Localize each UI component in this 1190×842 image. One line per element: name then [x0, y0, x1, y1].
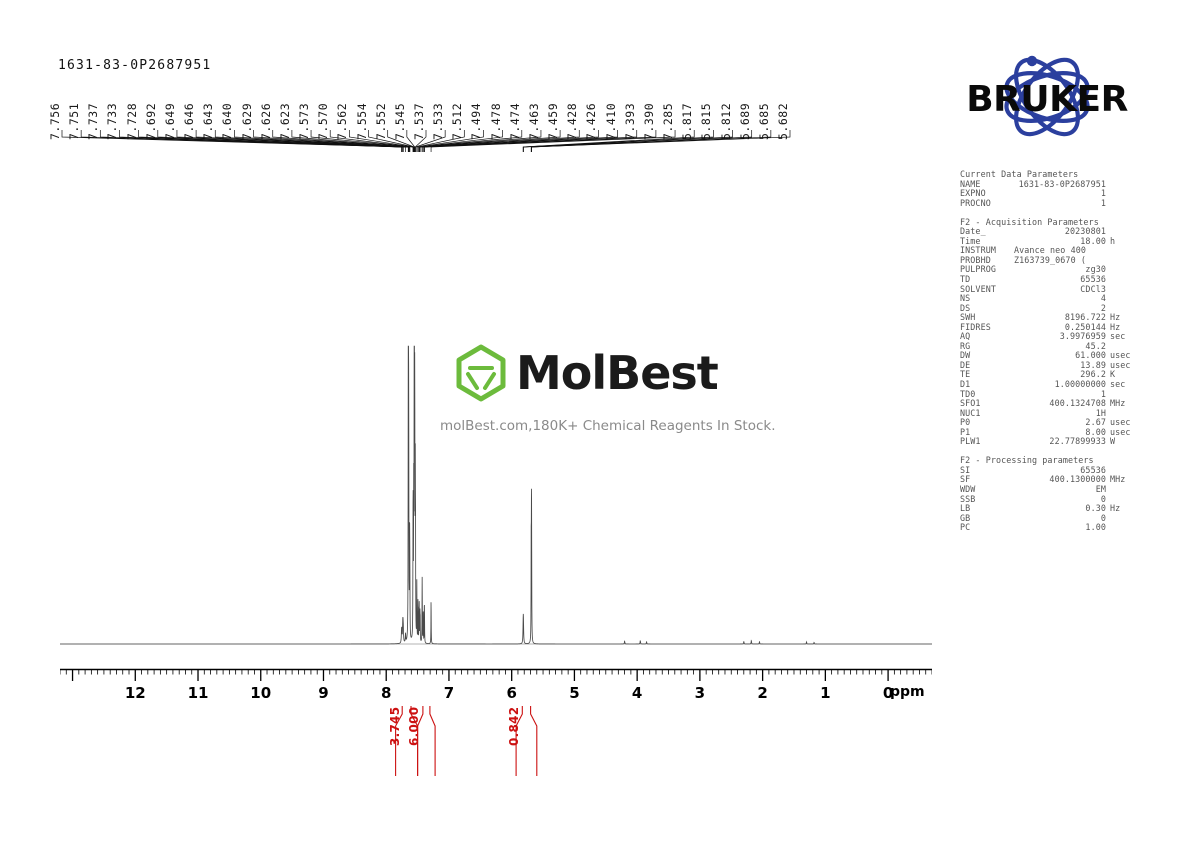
- param-value: 1.00000000: [1014, 380, 1106, 390]
- param-unit: [1106, 485, 1140, 495]
- param-unit: [1106, 285, 1140, 295]
- axis-tick-label: 8: [381, 684, 391, 702]
- integral-brackets: [60, 706, 932, 786]
- param-value: 400.1324708: [1014, 399, 1106, 409]
- param-row: GB0: [960, 514, 1140, 524]
- peak-leader-line: [418, 130, 484, 152]
- param-row: PULPROGzg30: [960, 265, 1140, 275]
- param-row: PLW122.77899933W: [960, 437, 1140, 447]
- param-unit: h: [1106, 237, 1140, 247]
- param-section-header: F2 - Processing parameters: [960, 456, 1140, 466]
- param-unit: [1106, 514, 1140, 524]
- peak-label-list: 7.7567.7517.7377.7337.7287.6927.6497.646…: [62, 62, 802, 140]
- integral-markers: 3.7456.0000.842: [60, 706, 932, 786]
- param-value: CDCl3: [1014, 285, 1106, 295]
- param-unit: MHz: [1106, 399, 1140, 409]
- param-unit: [1106, 265, 1140, 275]
- param-value: 1: [1014, 189, 1106, 199]
- axis-tick-label: 1: [820, 684, 830, 702]
- peak-leader-lines: [60, 130, 820, 152]
- integral-value: 3.745: [388, 707, 402, 746]
- axis-tick-label: 2: [757, 684, 767, 702]
- param-value: 22.77899933: [1014, 437, 1106, 447]
- param-unit: [1106, 523, 1140, 533]
- param-unit: sec: [1106, 380, 1140, 390]
- axis-tick-label: 3: [695, 684, 705, 702]
- param-row: NS4: [960, 294, 1140, 304]
- param-row: WDWEM: [960, 485, 1140, 495]
- param-value: 400.1300000: [1014, 475, 1106, 485]
- param-value: 4: [1014, 294, 1106, 304]
- param-row: PC1.00: [960, 523, 1140, 533]
- bruker-logo: BRUKER: [952, 52, 1142, 142]
- parameter-panel: Current Data ParametersNAME1631-83-0P268…: [960, 170, 1140, 533]
- param-row: AQ3.9976959sec: [960, 332, 1140, 342]
- molbest-watermark: MolBest molBest.com,180K+ Chemical Reage…: [440, 342, 770, 434]
- bruker-wordmark: BRUKER: [952, 82, 1142, 118]
- axis-tick-label: 5: [569, 684, 579, 702]
- param-unit: [1106, 189, 1140, 199]
- watermark-wordmark: MolBest: [516, 350, 718, 396]
- param-value: 0.30: [1014, 504, 1106, 514]
- param-row: D11.00000000sec: [960, 380, 1140, 390]
- param-value: EM: [1014, 485, 1106, 495]
- param-value: 1.00: [1014, 523, 1106, 533]
- hexagon-logo-icon: [450, 342, 512, 404]
- axis-tick-label: 9: [318, 684, 328, 702]
- param-unit: W: [1106, 437, 1140, 447]
- param-unit: [1106, 256, 1140, 266]
- param-row: LB0.30Hz: [960, 504, 1140, 514]
- axis-tick-label: 10: [250, 684, 271, 702]
- param-unit: MHz: [1106, 475, 1140, 485]
- param-unit: [1106, 199, 1140, 209]
- param-row: NAME1631-83-0P2687951: [960, 180, 1140, 190]
- axis-tick-label: 12: [125, 684, 146, 702]
- axis-tick-label: 7: [444, 684, 454, 702]
- param-unit: [1106, 246, 1140, 256]
- param-key: PLW1: [960, 437, 1014, 447]
- param-unit: [1106, 180, 1140, 190]
- param-key: PC: [960, 523, 1014, 533]
- axis-tick-label: 6: [506, 684, 516, 702]
- axis-tick-label: 11: [188, 684, 209, 702]
- axis-ruler: [60, 668, 932, 684]
- axis-tick-label: 4: [632, 684, 642, 702]
- watermark-logo-row: MolBest: [440, 342, 770, 404]
- axis-unit-label: ppm: [890, 684, 925, 700]
- param-row: PROCNO1: [960, 199, 1140, 209]
- integral-value: 0.842: [507, 707, 521, 746]
- param-unit: sec: [1106, 332, 1140, 342]
- param-row: SFO1400.1324708MHz: [960, 399, 1140, 409]
- bruker-nucleus-dot: [1027, 56, 1037, 66]
- watermark-tagline: molBest.com,180K+ Chemical Reagents In S…: [440, 418, 770, 434]
- param-row: SF400.1300000MHz: [960, 475, 1140, 485]
- integral-value: 6.000: [407, 707, 421, 746]
- param-unit: Hz: [1106, 504, 1140, 514]
- param-value: 1: [1014, 199, 1106, 209]
- param-row: SOLVENTCDCl3: [960, 285, 1140, 295]
- nmr-report-page: 1631-83-0P2687951 7.7567.7517.7377.7337.…: [0, 0, 1190, 842]
- param-unit: [1106, 294, 1140, 304]
- param-value: 1631-83-0P2687951: [1014, 180, 1106, 190]
- param-key: PROCNO: [960, 199, 1014, 209]
- peak-leader-line: [349, 130, 413, 152]
- param-section-header: F2 - Acquisition Parameters: [960, 218, 1140, 228]
- param-unit: [1106, 275, 1140, 285]
